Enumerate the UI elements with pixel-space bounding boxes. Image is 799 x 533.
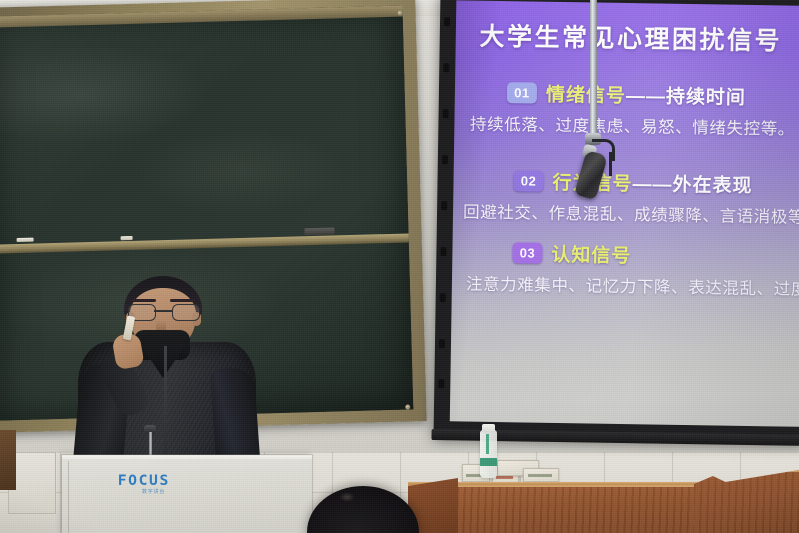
- desk-right-end: [694, 470, 799, 533]
- section-02-heading-tail: ——外在表现: [632, 174, 752, 197]
- section-01-heading-key: 情绪信号: [546, 85, 626, 107]
- projection-screen: 大学生常见心理困扰信号 01 情绪信号——持续时间 持续低落、过度焦虑、易怒、情…: [434, 0, 799, 443]
- presenter-eyebrow: [132, 299, 156, 302]
- bottle-cap: [482, 424, 495, 433]
- slide-section-03: 03 认知信号 注意力难集中、记忆力下降、表达混乱、过度自责: [462, 238, 799, 299]
- podium-brand-subtext: 数字讲台: [142, 488, 165, 495]
- side-wall-panel: [0, 430, 16, 490]
- microphone-cable: [609, 152, 612, 176]
- section-01-number-badge: 01: [507, 82, 537, 103]
- blackboard-eraser[interactable]: [304, 227, 334, 235]
- chalk-piece[interactable]: [17, 238, 34, 242]
- frame-screw: [398, 11, 403, 16]
- slide-section-01: 01 情绪信号——持续时间 持续低落、过度焦虑、易怒、情绪失控等。: [464, 79, 799, 140]
- section-03-heading-row: 03 认知信号: [462, 238, 798, 270]
- microphone-stand-pole: [590, 0, 597, 139]
- section-02-body: 回避社交、作息混乱、成绩骤降、言语消极等。: [463, 198, 799, 227]
- presenter-eyebrow: [170, 299, 194, 302]
- presenter: [72, 268, 262, 483]
- bottle-stripe: [486, 434, 489, 454]
- slide-title: 大学生常见心理困扰信号: [456, 16, 799, 57]
- slide-content: 大学生常见心理困扰信号 01 情绪信号——持续时间 持续低落、过度焦虑、易怒、情…: [450, 0, 799, 426]
- section-03-body: 注意力难集中、记忆力下降、表达混乱、过度自责: [462, 270, 798, 299]
- podium-seam: [68, 461, 69, 533]
- section-01-heading-row: 01 情绪信号——持续时间: [465, 79, 799, 111]
- section-03-number-badge: 03: [512, 242, 542, 263]
- desk-box[interactable]: [523, 468, 559, 482]
- lecture-hall-photo: 大学生常见心理困扰信号 01 情绪信号——持续时间 持续低落、过度焦虑、易怒、情…: [0, 0, 799, 533]
- section-02-number-badge: 02: [513, 170, 543, 191]
- section-03-heading-key: 认知信号: [551, 245, 631, 267]
- bottle-label: [480, 458, 497, 466]
- section-01-body: 持续低落、过度焦虑、易怒、情绪失控等。: [464, 110, 799, 139]
- lectern-podium[interactable]: FOCUS 数字讲台: [62, 455, 312, 533]
- hair-whorl: [339, 492, 355, 502]
- chalk-piece[interactable]: [121, 236, 133, 240]
- podium-microphone-stem: [149, 432, 152, 456]
- section-02-heading-row: 02 行为信号——外在表现: [463, 166, 799, 198]
- glasses-icon: [128, 304, 198, 320]
- slide-section-02: 02 行为信号——外在表现 回避社交、作息混乱、成绩骤降、言语消极等。: [463, 166, 799, 227]
- section-01-heading-tail: ——持续时间: [626, 86, 746, 109]
- podium-top-edge: [62, 457, 312, 461]
- podium-brand-logo: FOCUS: [118, 473, 170, 489]
